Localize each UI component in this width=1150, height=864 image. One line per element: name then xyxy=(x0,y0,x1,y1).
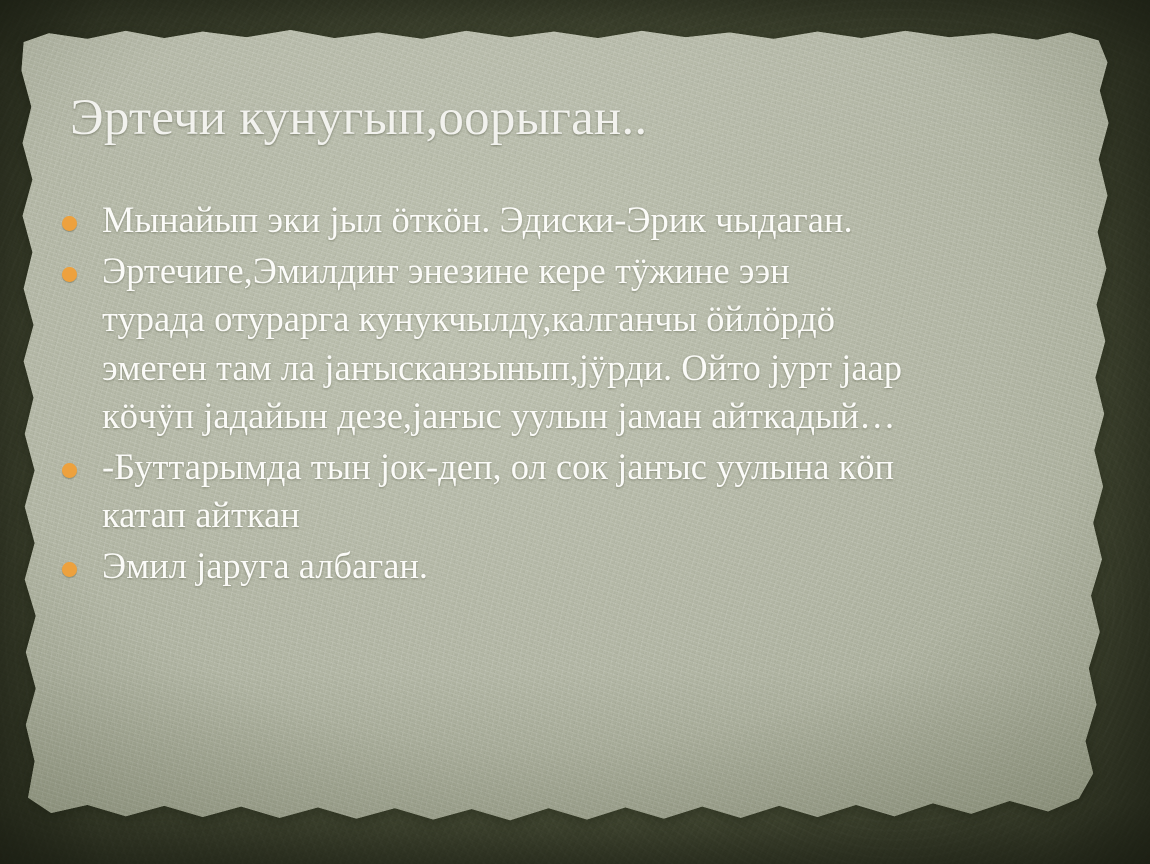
slide-content: Эртечи кунугып,оорыган.. Мынайып эки јыл… xyxy=(0,0,1150,864)
bullet-dot-icon xyxy=(62,267,77,282)
bullet-line: турада отурарга кунукчылду,калганчы öйлö… xyxy=(102,295,1092,344)
bullet-line: Эмил јаруга албаган. xyxy=(102,542,1092,591)
bullet-line: Эртечиге,Эмилдиҥ энезине кере тӱжине ээн xyxy=(102,247,1092,296)
list-item: -Буттарымда тын јок-деп, ол сок јаҥыс уу… xyxy=(62,443,1092,540)
list-item: Мынайып эки јыл öткöн. Эдиски-Эрик чыдаг… xyxy=(62,196,1092,245)
bullet-marker xyxy=(62,443,102,478)
bullet-text: Эмил јаруга албаган. xyxy=(102,542,1092,591)
bullet-line: катап айткан xyxy=(102,491,1092,540)
bullet-dot-icon xyxy=(62,463,77,478)
bullet-line: кöчӱп јадайын дезе,јаҥыс уулын јаман айт… xyxy=(102,392,1092,441)
list-item: Эртечиге,Эмилдиҥ энезине кере тӱжине ээн… xyxy=(62,247,1092,441)
presentation-slide: Эртечи кунугып,оорыган.. Мынайып эки јыл… xyxy=(0,0,1150,864)
bullet-line: эмеген там ла јаҥысканзынып,јӱрди. Ойто … xyxy=(102,344,1092,393)
slide-title: Эртечи кунугып,оорыган.. xyxy=(70,90,1080,147)
bullet-marker xyxy=(62,247,102,282)
bullet-dot-icon xyxy=(62,562,77,577)
list-item: Эмил јаруга албаган. xyxy=(62,542,1092,591)
bullet-marker xyxy=(62,196,102,231)
bullet-line: -Буттарымда тын јок-деп, ол сок јаҥыс уу… xyxy=(102,443,1092,492)
bullet-list: Мынайып эки јыл öткöн. Эдиски-Эрик чыдаг… xyxy=(62,196,1092,592)
bullet-line: Мынайып эки јыл öткöн. Эдиски-Эрик чыдаг… xyxy=(102,196,1092,245)
bullet-text: Мынайып эки јыл öткöн. Эдиски-Эрик чыдаг… xyxy=(102,196,1092,245)
bullet-marker xyxy=(62,542,102,577)
bullet-dot-icon xyxy=(62,216,77,231)
bullet-text: -Буттарымда тын јок-деп, ол сок јаҥыс уу… xyxy=(102,443,1092,540)
bullet-text: Эртечиге,Эмилдиҥ энезине кере тӱжине ээн… xyxy=(102,247,1092,441)
